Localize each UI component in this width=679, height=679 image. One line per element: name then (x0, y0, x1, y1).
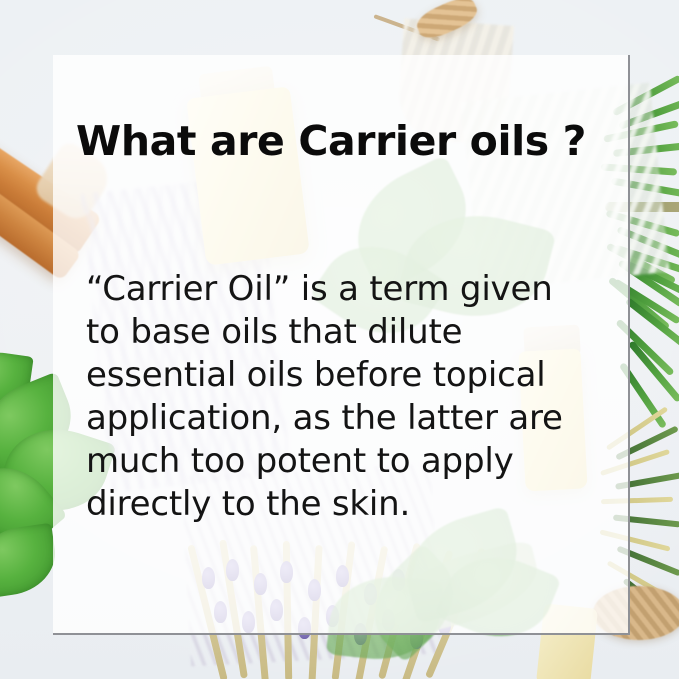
body-line: “Carrier Oil” is a term given (86, 268, 616, 311)
page-title: What are Carrier oils ? (76, 120, 616, 163)
body-line: much too potent to apply (86, 440, 616, 483)
infographic-canvas: What are Carrier oils ? “Carrier Oil” is… (0, 0, 679, 679)
body-line: to base oils that dilute (86, 311, 616, 354)
body-line: directly to the skin. (86, 483, 616, 526)
text-layer: What are Carrier oils ? “Carrier Oil” is… (0, 0, 679, 679)
body-line: essential oils before topical (86, 354, 616, 397)
body-paragraph: “Carrier Oil” is a term given to base oi… (86, 268, 616, 526)
body-line: application, as the latter are (86, 397, 616, 440)
